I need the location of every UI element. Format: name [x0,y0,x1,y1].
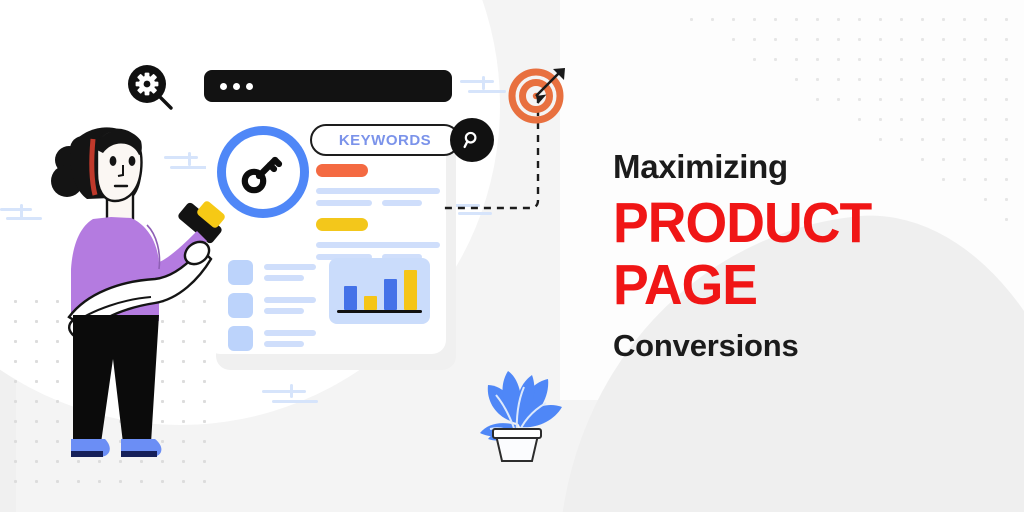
target-arrow-icon [508,68,566,126]
potted-plant-icon [462,345,572,463]
result-line [382,200,422,206]
list-line [264,341,304,347]
keywords-search-value: KEYWORDS [339,132,431,149]
key-icon [239,150,285,196]
decor-lines-c [262,382,318,408]
headline-line-3: Conversions [613,330,993,361]
window-dot-icon [220,83,227,90]
list-line [264,264,316,270]
decor-lines-e [0,202,44,224]
person-with-magnifier [47,113,227,458]
result-pill-yellow [316,218,368,231]
list-thumb [228,326,253,351]
chart-axis-line [337,310,422,313]
window-dot-icon [233,83,240,90]
chart-bar [344,286,357,310]
eye [110,156,117,166]
seo-banner: KEYWORDS [0,0,1024,512]
chart-bar [384,279,397,310]
bar-chart [329,258,430,324]
result-line [316,188,440,194]
list-line [264,308,304,314]
list-line [264,297,316,303]
list-line [264,275,304,281]
list-thumb [228,293,253,318]
gear-search-icon [126,63,174,111]
browser-titlebar [204,70,452,102]
list-thumb [228,260,253,285]
list-line [264,330,316,336]
chart-bar [364,296,377,310]
headline-line-2: PRODUCT PAGE [613,193,970,316]
chart-bar [404,270,417,310]
window-dot-icon [246,83,253,90]
result-line [316,200,372,206]
keywords-search-field[interactable]: KEYWORDS [310,124,460,156]
headline-line-1: Maximizing [613,150,993,183]
result-line [316,242,440,248]
result-pill-orange [316,164,368,177]
headline-block: Maximizing PRODUCT PAGE Conversions [613,150,993,361]
eye [129,156,136,166]
